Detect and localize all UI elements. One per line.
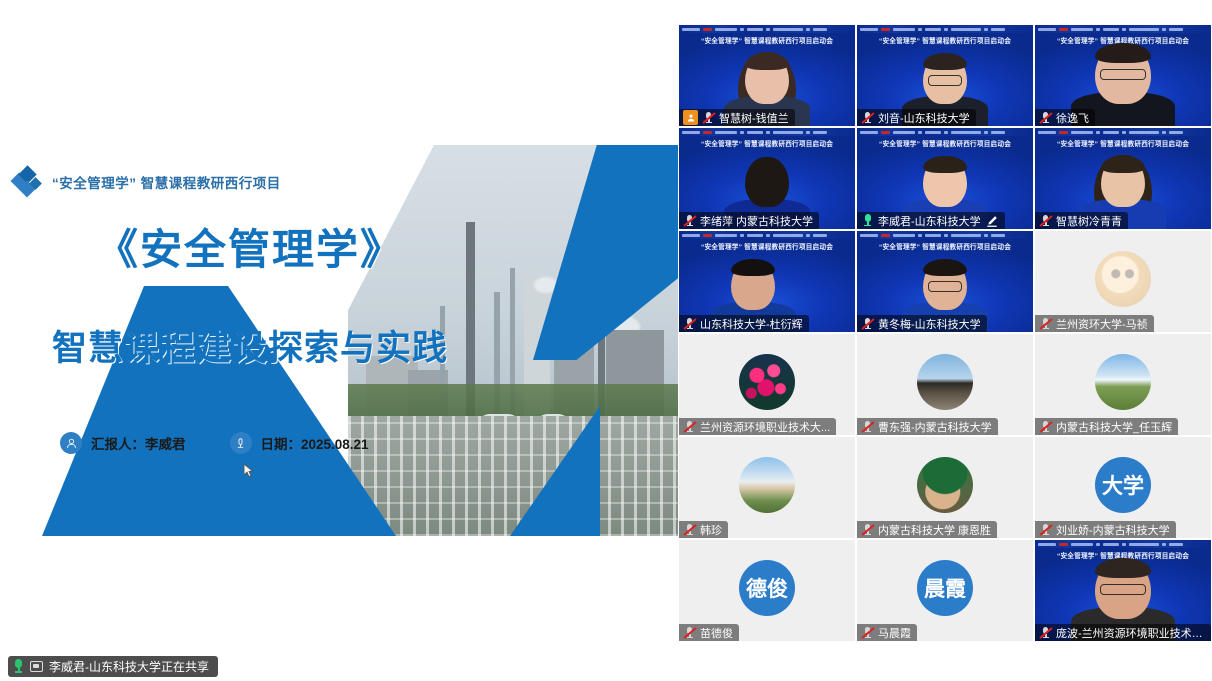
stage-banner-logos <box>1035 540 1211 548</box>
video-banner-title: “安全管理学” 智慧课程教研西行项目启动会 <box>679 241 855 251</box>
slide-title-secondary: 智慧课程建设探索与实践 <box>0 330 500 369</box>
participant-hair <box>1095 43 1151 63</box>
participant-name-bar: 庞波-兰州资源环境职业技术大学 <box>1035 624 1211 641</box>
participant-tile[interactable]: 兰州资源环境职业技术大... <box>679 334 855 435</box>
participant-tile[interactable]: “安全管理学” 智慧课程教研西行项目启动会山东科技大学-杜衍辉 <box>679 231 855 332</box>
participant-tile[interactable]: 曹东强-内蒙古科技大学 <box>857 334 1033 435</box>
shared-screen-stage[interactable]: “安全管理学” 智慧课程教研西行项目 《安全管理学》 智慧课程建设探索与实践 汇… <box>0 0 678 681</box>
participant-hair <box>923 259 967 276</box>
participant-name: 曹东强-内蒙古科技大学 <box>878 419 992 435</box>
participant-tile[interactable]: 大学刘业娇-内蒙古科技大学 <box>1035 437 1211 538</box>
avatar: 大学 <box>1095 457 1151 513</box>
slide-header: “安全管理学” 智慧课程教研西行项目 <box>12 167 281 197</box>
sharing-status-pill[interactable]: 李威君-山东科技大学正在共享 <box>8 656 218 677</box>
participant-name: 苗德俊 <box>700 625 733 641</box>
microphone-muted-icon[interactable] <box>1039 420 1052 433</box>
participant-name-bar: 李绪萍 内蒙古科技大学 <box>679 212 819 229</box>
participant-tile[interactable]: 内蒙古科技大学_任玉辉 <box>1035 334 1211 435</box>
participant-name-bar: 马晨霞 <box>857 624 917 641</box>
annotate-pen-icon[interactable] <box>985 214 999 228</box>
glasses-icon <box>928 281 962 292</box>
diamond-cluster-logo <box>12 167 42 197</box>
participant-hair <box>923 53 967 70</box>
participant-name-bar: 苗德俊 <box>679 624 739 641</box>
participant-name-bar: 韩珍 <box>679 521 728 538</box>
participant-tile[interactable]: “安全管理学” 智慧课程教研西行项目启动会庞波-兰州资源环境职业技术大学 <box>1035 540 1211 641</box>
participant-tile[interactable]: “安全管理学” 智慧课程教研西行项目启动会刘音-山东科技大学 <box>857 25 1033 126</box>
participant-name-bar: 兰州资源环境职业技术大... <box>679 418 836 435</box>
microphone-muted-icon[interactable] <box>861 420 874 433</box>
participant-hair <box>745 53 789 70</box>
participant-tile[interactable]: “安全管理学” 智慧课程教研西行项目启动会徐逸飞 <box>1035 25 1211 126</box>
video-banner-title: “安全管理学” 智慧课程教研西行项目启动会 <box>857 138 1033 148</box>
stage-banner-logos <box>857 128 1033 136</box>
participant-name: 庞波-兰州资源环境职业技术大学 <box>1056 625 1205 641</box>
participant-hair <box>1095 558 1151 578</box>
slide-header-text: “安全管理学” 智慧课程教研西行项目 <box>52 172 281 192</box>
participant-name: 韩珍 <box>700 522 722 538</box>
participant-hair <box>923 156 967 173</box>
presenter-info: 汇报人：李威君 <box>60 432 186 454</box>
avatar: 晨霞 <box>917 560 973 616</box>
date-label: 日期：2025.08.21 <box>261 433 369 453</box>
participant-name: 智慧树冷青青 <box>1056 213 1122 229</box>
avatar: 德俊 <box>739 560 795 616</box>
participant-tile[interactable]: 德俊苗德俊 <box>679 540 855 641</box>
slide-meta-row: 汇报人：李威君 日期：2025.08.21 <box>60 432 369 454</box>
presenter-label: 汇报人：李威君 <box>91 433 186 453</box>
stage-banner-logos <box>679 231 855 239</box>
avatar <box>739 457 795 513</box>
microphone-muted-icon[interactable] <box>861 523 874 536</box>
participant-name: 刘业娇-内蒙古科技大学 <box>1056 522 1170 538</box>
avatar <box>917 457 973 513</box>
participant-hair <box>1101 156 1145 173</box>
participant-tile[interactable]: 兰州资环大学-马祯 <box>1035 231 1211 332</box>
host-person-icon <box>683 110 698 125</box>
participant-name-bar: 徐逸飞 <box>1035 109 1095 126</box>
participant-name: 刘音-山东科技大学 <box>878 110 970 126</box>
microphone-icon <box>230 432 252 454</box>
slide-title-primary: 《安全管理学》 <box>0 227 500 272</box>
participant-name: 内蒙古科技大学_任玉辉 <box>1056 419 1172 435</box>
participant-tile[interactable]: “安全管理学” 智慧课程教研西行项目启动会智慧树-钱值兰 <box>679 25 855 126</box>
video-banner-title: “安全管理学” 智慧课程教研西行项目启动会 <box>1035 138 1211 148</box>
microphone-on-icon <box>13 659 24 674</box>
meeting-window: “安全管理学” 智慧课程教研西行项目 《安全管理学》 智慧课程建设探索与实践 汇… <box>0 0 1212 681</box>
microphone-muted-icon[interactable] <box>1039 523 1052 536</box>
microphone-muted-icon[interactable] <box>1039 111 1052 124</box>
participant-name-bar: 智慧树-钱值兰 <box>679 109 795 126</box>
participant-name-bar: 刘音-山东科技大学 <box>857 109 976 126</box>
participant-hair <box>731 259 775 276</box>
microphone-muted-icon[interactable] <box>683 420 696 433</box>
stage-banner-logos <box>1035 128 1211 136</box>
microphone-muted-icon[interactable] <box>683 626 696 639</box>
participant-tile[interactable]: 韩珍 <box>679 437 855 538</box>
participant-name-bar: 李威君-山东科技大学 <box>857 212 1005 229</box>
video-banner-title: “安全管理学” 智慧课程教研西行项目启动会 <box>857 241 1033 251</box>
screen-share-icon <box>30 661 43 672</box>
participant-name: 马晨霞 <box>878 625 911 641</box>
microphone-muted-icon[interactable] <box>683 214 696 227</box>
participant-name: 徐逸飞 <box>1056 110 1089 126</box>
participant-name-bar: 山东科技大学-杜衍辉 <box>679 315 809 332</box>
stage-banner-logos <box>857 25 1033 33</box>
mouse-cursor <box>243 463 254 483</box>
microphone-muted-icon[interactable] <box>861 111 874 124</box>
participant-name: 兰州资源环境职业技术大... <box>700 419 830 435</box>
glasses-icon <box>928 75 962 86</box>
avatar <box>917 354 973 410</box>
presentation-slide: “安全管理学” 智慧课程教研西行项目 《安全管理学》 智慧课程建设探索与实践 汇… <box>0 145 678 536</box>
participant-name: 李绪萍 内蒙古科技大学 <box>700 213 813 229</box>
participant-head <box>745 157 789 207</box>
participant-name-bar: 黄冬梅-山东科技大学 <box>857 315 987 332</box>
microphone-on-icon[interactable] <box>861 214 874 228</box>
microphone-muted-icon[interactable] <box>702 111 715 124</box>
participant-name-bar: 内蒙古科技大学 康恩胜 <box>857 521 997 538</box>
video-banner-title: “安全管理学” 智慧课程教研西行项目启动会 <box>679 138 855 148</box>
participant-name-bar: 兰州资环大学-马祯 <box>1035 315 1154 332</box>
participant-tile[interactable]: “安全管理学” 智慧课程教研西行项目启动会李威君-山东科技大学 <box>857 128 1033 229</box>
participant-name: 黄冬梅-山东科技大学 <box>878 316 981 332</box>
video-banner-title: “安全管理学” 智慧课程教研西行项目启动会 <box>679 35 855 45</box>
microphone-muted-icon[interactable] <box>861 626 874 639</box>
microphone-muted-icon[interactable] <box>683 317 696 330</box>
glasses-icon <box>1100 69 1146 80</box>
microphone-muted-icon[interactable] <box>1039 317 1052 330</box>
participant-tile[interactable]: “安全管理学” 智慧课程教研西行项目启动会智慧树冷青青 <box>1035 128 1211 229</box>
date-info: 日期：2025.08.21 <box>230 432 369 454</box>
participant-tile[interactable]: 内蒙古科技大学 康恩胜 <box>857 437 1033 538</box>
avatar <box>739 354 795 410</box>
stage-banner-logos <box>857 231 1033 239</box>
participant-tile[interactable]: “安全管理学” 智慧课程教研西行项目启动会李绪萍 内蒙古科技大学 <box>679 128 855 229</box>
participant-tile[interactable]: “安全管理学” 智慧课程教研西行项目启动会黄冬梅-山东科技大学 <box>857 231 1033 332</box>
microphone-muted-icon[interactable] <box>1039 626 1052 639</box>
microphone-muted-icon[interactable] <box>1039 214 1052 227</box>
participant-name: 智慧树-钱值兰 <box>719 110 789 126</box>
glasses-icon <box>1100 584 1146 595</box>
person-icon <box>60 432 82 454</box>
participant-name-bar: 智慧树冷青青 <box>1035 212 1128 229</box>
participant-name: 内蒙古科技大学 康恩胜 <box>878 522 991 538</box>
participant-name-bar: 刘业娇-内蒙古科技大学 <box>1035 521 1176 538</box>
video-banner-title: “安全管理学” 智慧课程教研西行项目启动会 <box>857 35 1033 45</box>
microphone-muted-icon[interactable] <box>861 317 874 330</box>
participant-name: 山东科技大学-杜衍辉 <box>700 316 803 332</box>
stage-banner-logos <box>1035 25 1211 33</box>
participant-name-bar: 内蒙古科技大学_任玉辉 <box>1035 418 1178 435</box>
avatar <box>1095 251 1151 307</box>
participant-name: 兰州资环大学-马祯 <box>1056 316 1148 332</box>
stage-banner-logos <box>679 128 855 136</box>
participant-name: 李威君-山东科技大学 <box>878 213 981 229</box>
sharing-status-text: 李威君-山东科技大学正在共享 <box>49 658 209 675</box>
participant-grid[interactable]: “安全管理学” 智慧课程教研西行项目启动会智慧树-钱值兰“安全管理学” 智慧课程… <box>678 0 1212 681</box>
participant-name-bar: 曹东强-内蒙古科技大学 <box>857 418 998 435</box>
participant-tile[interactable]: 晨霞马晨霞 <box>857 540 1033 641</box>
microphone-muted-icon[interactable] <box>683 523 696 536</box>
avatar <box>1095 354 1151 410</box>
stage-banner-logos <box>679 25 855 33</box>
